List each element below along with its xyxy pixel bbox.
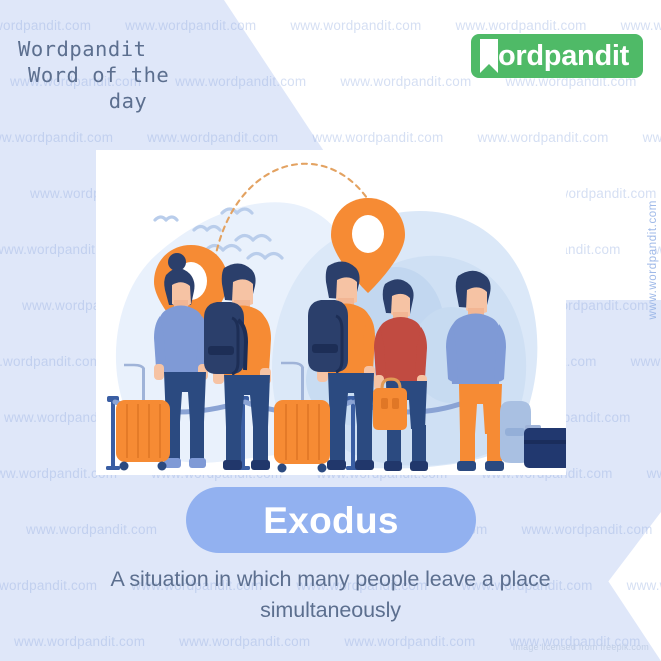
watermark-text: www.wordpandit.com bbox=[125, 18, 256, 33]
logo-text: ordpandit bbox=[498, 42, 629, 71]
bookmark-w-icon bbox=[479, 39, 499, 73]
wordpandit-logo[interactable]: ordpandit bbox=[471, 34, 643, 78]
vertical-site-url: www.wordpandit.com bbox=[647, 200, 659, 319]
title-line-1: Wordpandit bbox=[18, 36, 228, 62]
word-badge: Exodus bbox=[186, 487, 476, 553]
definition-text: A situation in which many people leave a… bbox=[40, 564, 621, 626]
watermark-text: www.wordpandit.com bbox=[0, 18, 91, 33]
travellers-illustration bbox=[96, 150, 566, 475]
image-credit: Image licensed from freepik.com bbox=[513, 642, 649, 652]
title-line-2: Word of the bbox=[18, 62, 228, 88]
suitcase-navy bbox=[524, 425, 566, 468]
watermark-text: www.wordpandit.com bbox=[0, 130, 113, 145]
word-of-the-day-card: www.wordpandit.comwww.wordpandit.comwww.… bbox=[0, 0, 661, 661]
word-text: Exodus bbox=[263, 502, 398, 539]
page-title: Wordpandit Word of the day bbox=[18, 36, 228, 114]
title-line-3: day bbox=[18, 88, 228, 114]
watermark-text: www.wordpandit.com bbox=[147, 130, 278, 145]
